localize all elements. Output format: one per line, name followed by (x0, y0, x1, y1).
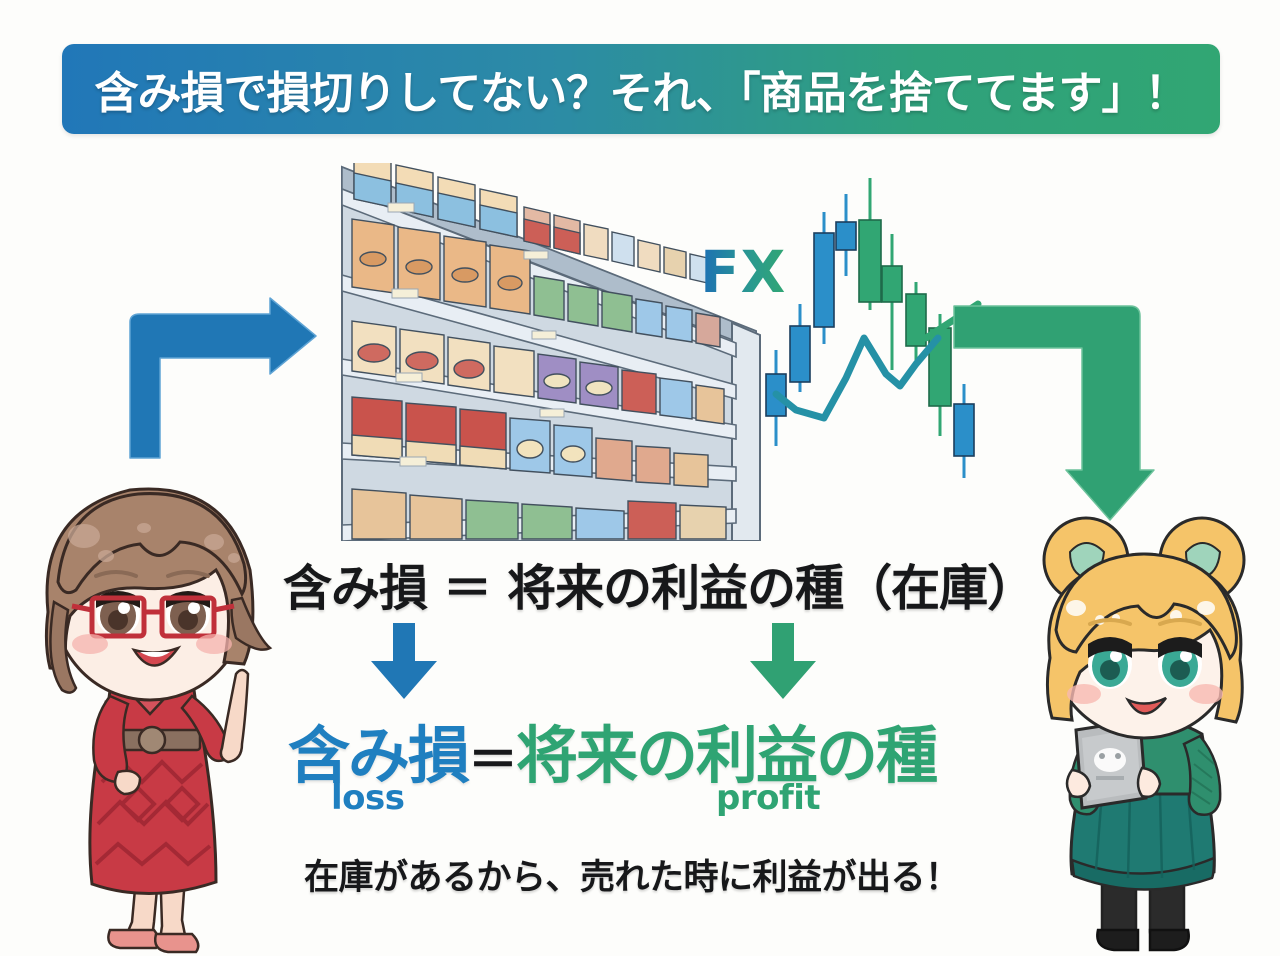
fx-chart: FX (688, 178, 988, 483)
green-elbow-arrow-down (950, 300, 1155, 525)
profit-sub-label: profit (716, 778, 820, 818)
loss-sub-label: loss (331, 778, 405, 818)
character-girl-with-bear-bun (1010, 512, 1275, 956)
tagline-text: 在庫があるから、売れた時に利益が出る！ (304, 849, 960, 900)
character-girl-with-glasses (10, 452, 290, 956)
fx-candlestick-svg (688, 178, 988, 483)
equation-line-1: 含み損 ＝ 将来の利益の種（在庫） (283, 549, 1035, 620)
blue-down-arrow (369, 623, 439, 701)
infographic-canvas: 含み損で損切りしてない？それ、「商品を捨ててます」！ (0, 0, 1280, 956)
green-down-arrow (748, 623, 818, 701)
blue-elbow-arrow-right (120, 296, 320, 466)
headline-banner: 含み損で損切りしてない？それ、「商品を捨ててます」！ (62, 44, 1220, 134)
equation-operator: ＝ (468, 731, 516, 789)
headline-text: 含み損で損切りしてない？それ、「商品を捨ててます」！ (95, 57, 1188, 121)
